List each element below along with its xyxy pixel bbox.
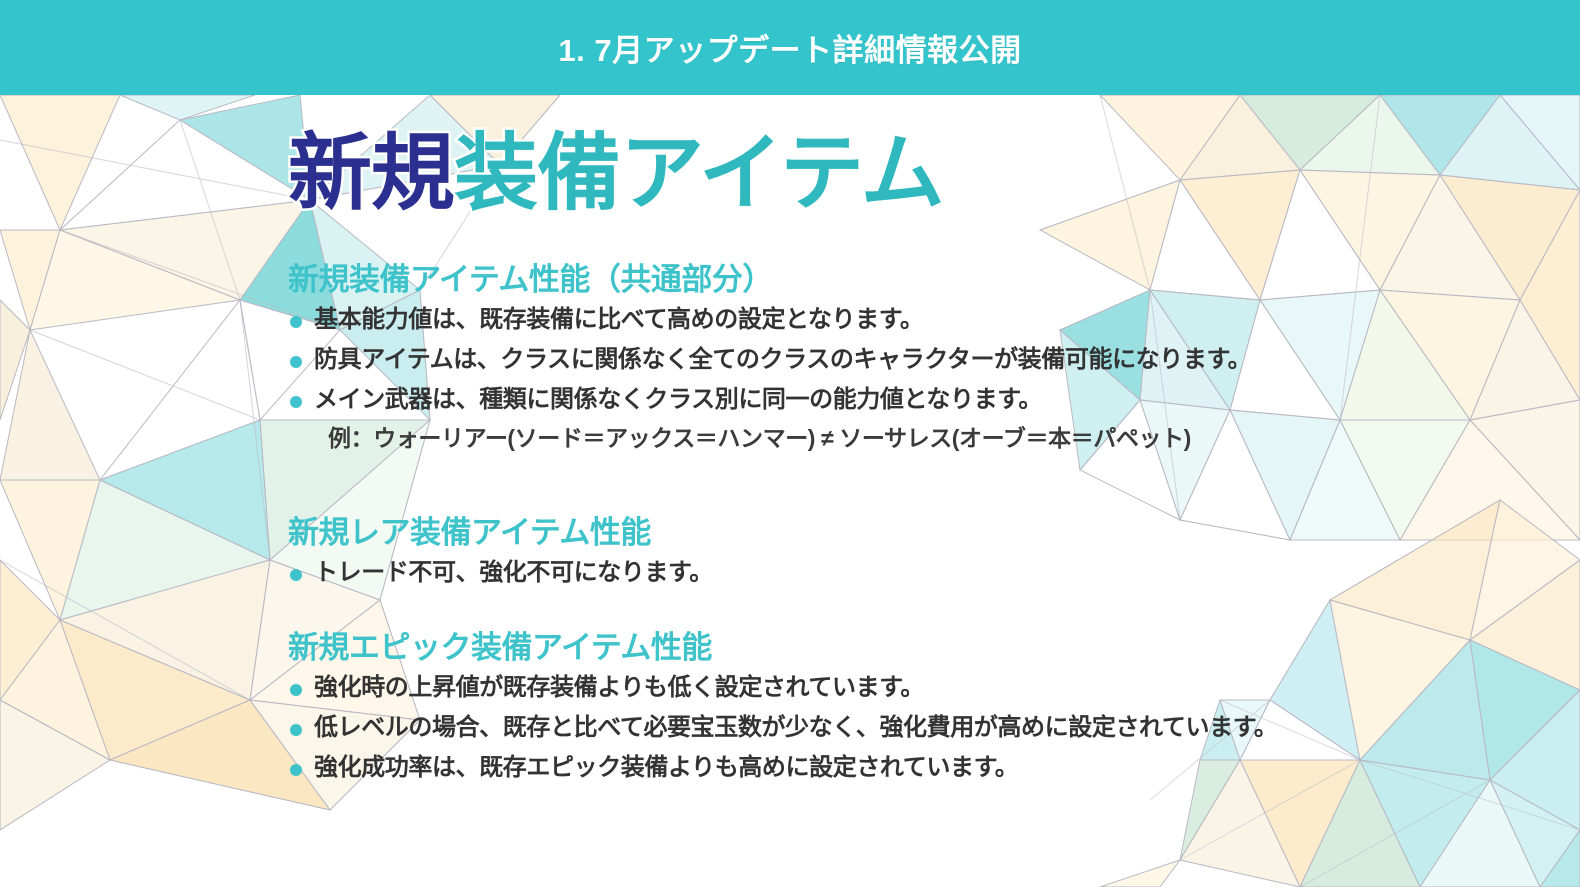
list-item: 防具アイテムは、クラスに関係なく全てのクラスのキャラクターが装備可能になります。	[288, 345, 1548, 376]
bullet-dot-icon	[290, 569, 302, 581]
list-item-label: 基本能力値は、既存装備に比べて高めの設定となります。	[314, 306, 924, 333]
list-item-label: メイン武器は、種類に関係なくクラス別に同一の能力値となります。	[314, 386, 1042, 413]
list-item: 強化時の上昇値が既存装備よりも低く設定されています。	[288, 673, 1548, 704]
list-item: 低レベルの場合、既存と比べて必要宝玉数が少なく、強化費用が高めに設定されています…	[288, 713, 1548, 744]
bullet-dot-icon	[290, 316, 302, 328]
bullet-dot-icon	[290, 764, 302, 776]
section-common-stats: 新規装備アイテム性能（共通部分） 基本能力値は、既存装備に比べて高めの設定となり…	[288, 263, 1548, 458]
section-heading: 新規装備アイテム性能（共通部分）	[288, 263, 1548, 297]
bullet-list: 基本能力値は、既存装備に比べて高めの設定となります。 防具アイテムは、クラスに関…	[288, 305, 1548, 454]
list-item-note: 例：ウォーリアー(ソード＝アックス＝ハンマー) ≠ ソーサレス(オーブ＝本＝パペ…	[288, 424, 1548, 454]
bullet-list: トレード不可、強化不可になります。	[288, 558, 1548, 589]
page-title-part-navy: 新規	[288, 126, 454, 220]
bullet-dot-icon	[290, 396, 302, 408]
slide-content: 新規装備アイテム 新規装備アイテム性能（共通部分） 基本能力値は、既存装備に比べ…	[0, 95, 1580, 887]
list-item-label: 低レベルの場合、既存と比べて必要宝玉数が少なく、強化費用が高めに設定されています…	[314, 714, 1278, 741]
bullet-dot-icon	[290, 684, 302, 696]
bullet-dot-icon	[290, 724, 302, 736]
section-epic-stats: 新規エピック装備アイテム性能 強化時の上昇値が既存装備よりも低く設定されています…	[288, 631, 1548, 792]
list-item-label: 強化時の上昇値が既存装備よりも低く設定されています。	[314, 674, 924, 701]
list-item: 基本能力値は、既存装備に比べて高めの設定となります。	[288, 305, 1548, 336]
list-item: メイン武器は、種類に関係なくクラス別に同一の能力値となります。	[288, 385, 1548, 416]
list-item-label: 防具アイテムは、クラスに関係なく全てのクラスのキャラクターが装備可能になります。	[314, 346, 1251, 373]
section-rare-stats: 新規レア装備アイテム性能 トレード不可、強化不可になります。	[288, 516, 1548, 598]
list-item-label: 強化成功率は、既存エピック装備よりも高めに設定されています。	[314, 754, 1018, 781]
section-heading: 新規レア装備アイテム性能	[288, 516, 1548, 550]
bullet-list: 強化時の上昇値が既存装備よりも低く設定されています。 低レベルの場合、既存と比べ…	[288, 673, 1548, 783]
bullet-dot-icon	[290, 356, 302, 368]
page-title: 新規装備アイテム	[288, 131, 944, 215]
header-title: 1. 7月アップデート詳細情報公開	[558, 25, 1021, 70]
list-item: トレード不可、強化不可になります。	[288, 558, 1548, 589]
list-item-label: トレード不可、強化不可になります。	[314, 559, 713, 586]
slide-root: 1. 7月アップデート詳細情報公開 新規装備アイテム 新規装備アイテム性能（共通…	[0, 0, 1580, 887]
header-banner: 1. 7月アップデート詳細情報公開	[0, 0, 1580, 95]
page-title-part-teal: 装備アイテム	[454, 126, 944, 220]
section-heading: 新規エピック装備アイテム性能	[288, 631, 1548, 665]
list-item: 強化成功率は、既存エピック装備よりも高めに設定されています。	[288, 753, 1548, 784]
